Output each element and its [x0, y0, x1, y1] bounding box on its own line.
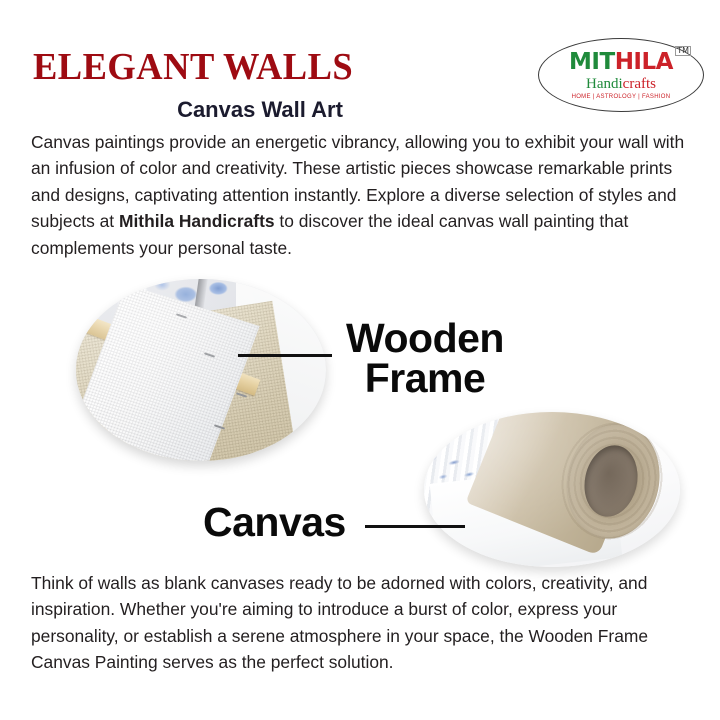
leader-line-wooden-frame	[238, 354, 332, 357]
photo-gloss-overlay	[76, 279, 326, 461]
logo-word-part3: HILA	[615, 49, 673, 75]
rolled-canvas-photo	[424, 412, 680, 567]
brand-title: ELEGANT WALLS	[33, 48, 353, 86]
mithila-handicrafts-logo: MITHILA TM Handicrafts HOME | ASTROLOGY …	[538, 38, 704, 112]
trademark-icon: TM	[675, 46, 691, 56]
page-subheading: Canvas Wall Art	[0, 98, 520, 122]
canvas-wall-art-infographic: ELEGANT WALLS MITHILA TM Handicrafts HOM…	[0, 0, 720, 720]
product-figure: Wooden Frame Canvas	[0, 270, 720, 570]
photo-gloss-overlay	[424, 412, 680, 567]
logo-sub-part1: Handi	[586, 76, 623, 92]
label-wooden-frame: Wooden Frame	[330, 319, 520, 399]
logo-sub-part2: crafts	[623, 76, 656, 92]
canvas-corner-wooden-frame-photo	[76, 279, 326, 461]
label-canvas: Canvas	[203, 502, 346, 543]
intro-paragraph: Canvas paintings provide an energetic vi…	[31, 129, 699, 261]
intro-brand-mention: Mithila Handicrafts	[119, 211, 275, 231]
logo-word-part2: T	[599, 49, 614, 75]
logo-tagline: HOME | ASTROLOGY | FASHION	[538, 94, 704, 100]
logo-word-part1: MI	[569, 49, 599, 75]
logo-subtitle: Handicrafts	[538, 77, 704, 92]
closing-paragraph: Think of walls as blank canvases ready t…	[31, 570, 701, 676]
leader-line-canvas	[365, 525, 465, 528]
